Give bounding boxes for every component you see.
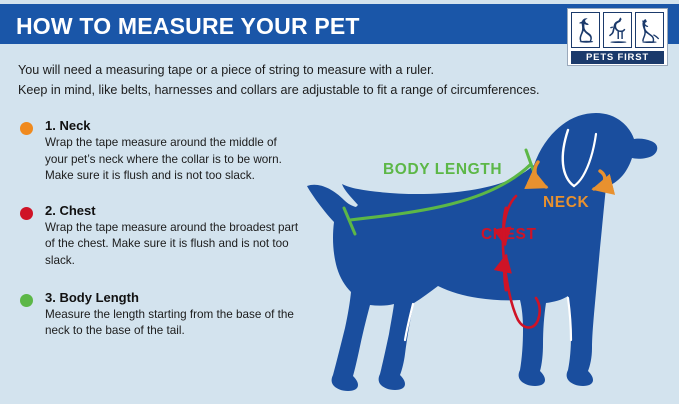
step-chest-title: 2. Chest xyxy=(45,203,300,218)
measurement-steps: 1. Neck Wrap the tape measure around the… xyxy=(18,118,300,358)
dog-measurement-illustration: BODY LENGTH NECK CHEST xyxy=(300,108,679,404)
brand-logo: PETS FIRST xyxy=(567,8,668,66)
step-body-length: 3. Body Length Measure the length starti… xyxy=(18,290,300,340)
intro-line-1: You will need a measuring tape or a piec… xyxy=(18,61,618,81)
page-title: HOW TO MEASURE YOUR PET xyxy=(16,13,360,40)
dog-silhouette-shape xyxy=(307,113,657,391)
intro-text: You will need a measuring tape or a piec… xyxy=(18,61,618,100)
step-neck-title: 1. Neck xyxy=(45,118,300,133)
dog-sitting-alert-icon xyxy=(635,12,664,48)
chest-label: CHEST xyxy=(481,226,537,243)
step-body-length-desc: Measure the length starting from the bas… xyxy=(45,307,300,340)
step-neck: 1. Neck Wrap the tape measure around the… xyxy=(18,118,300,185)
infographic-page: HOW TO MEASURE YOUR PET xyxy=(0,0,679,404)
dog-shaking-paw-icon xyxy=(603,12,632,48)
intro-line-2: Keep in mind, like belts, harnesses and … xyxy=(18,81,618,101)
bullet-neck xyxy=(20,122,33,135)
logo-icon-row xyxy=(571,12,664,48)
step-chest: 2. Chest Wrap the tape measure around th… xyxy=(18,203,300,270)
step-body-length-title: 3. Body Length xyxy=(45,290,300,305)
bullet-chest xyxy=(20,207,33,220)
step-neck-desc: Wrap the tape measure around the middle … xyxy=(45,135,300,185)
dog-sitting-icon xyxy=(571,12,600,48)
neck-label: NECK xyxy=(543,194,590,211)
step-chest-desc: Wrap the tape measure around the broades… xyxy=(45,220,300,270)
body-length-label: BODY LENGTH xyxy=(383,161,502,178)
bullet-body-length xyxy=(20,294,33,307)
